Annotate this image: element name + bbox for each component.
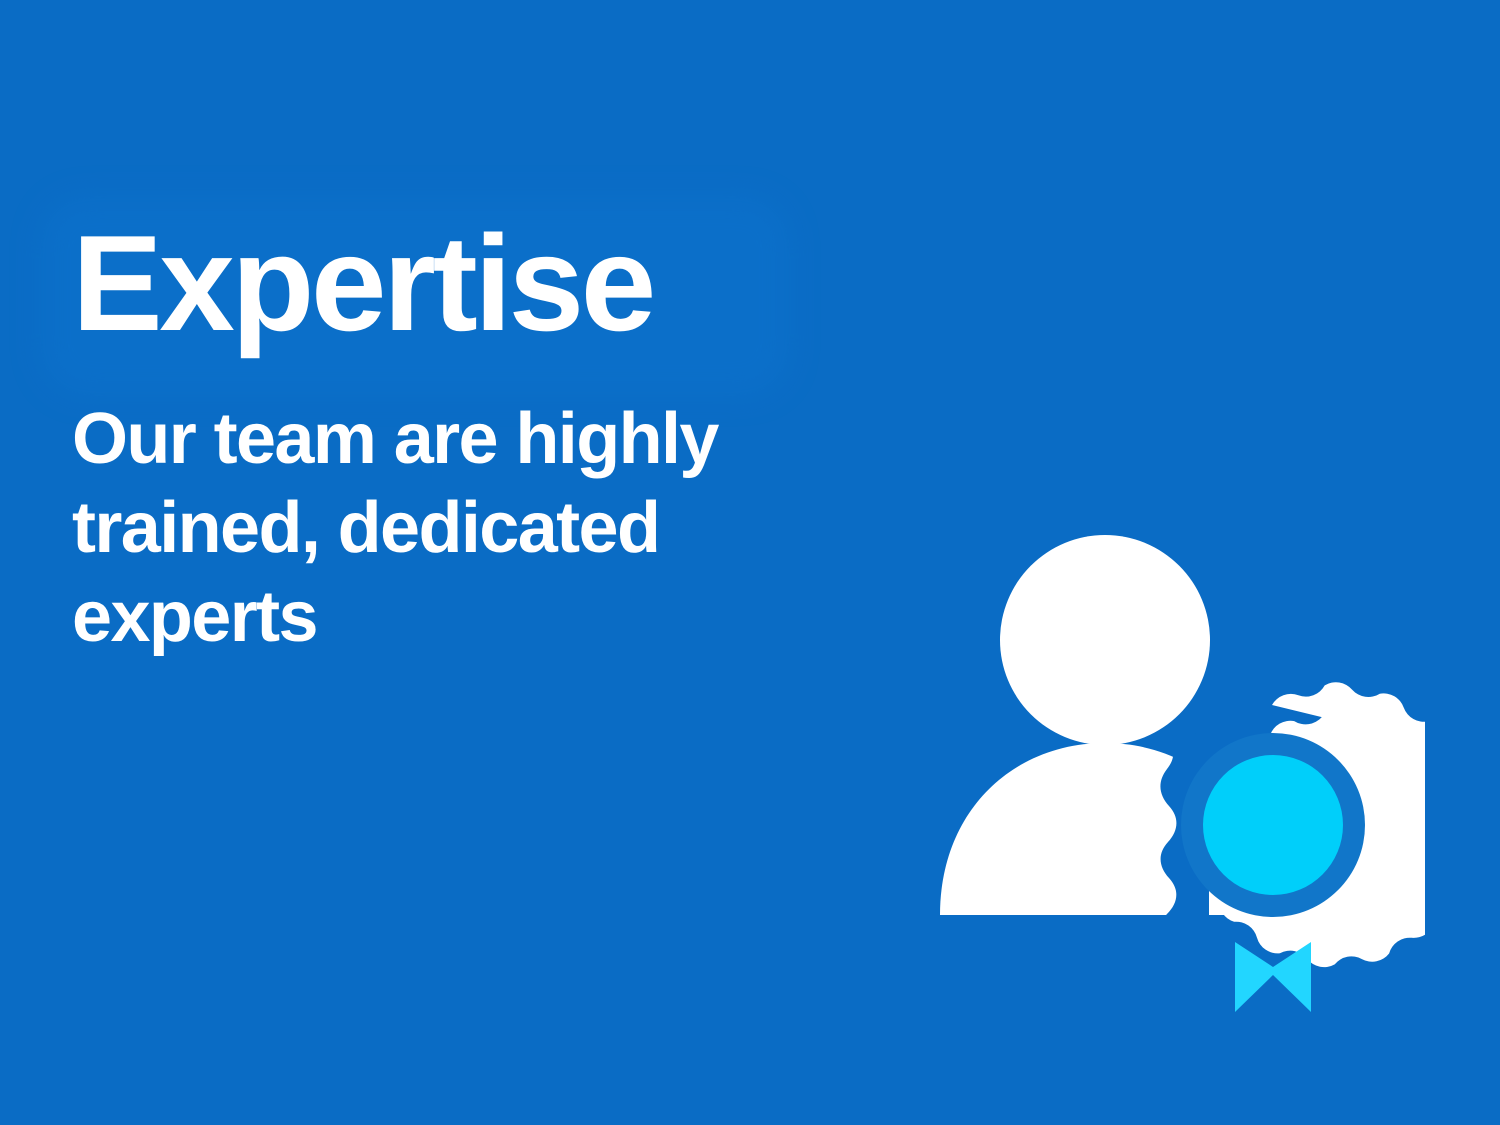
award-badge-center-icon xyxy=(1203,755,1343,895)
subtitle-line-2: trained, dedicated xyxy=(72,484,872,573)
expertise-slide: Expertise Our team are highly trained, d… xyxy=(0,0,1500,1125)
subtitle-line-3: experts xyxy=(72,573,872,662)
subtitle-line-1: Our team are highly xyxy=(72,395,872,484)
page-title: Expertise xyxy=(72,214,932,353)
award-badge-icon xyxy=(1181,682,1425,967)
certified-person-badge-icon xyxy=(905,505,1425,1025)
person-head-icon xyxy=(1000,535,1210,745)
page-subtitle: Our team are highly trained, dedicated e… xyxy=(72,353,872,663)
text-block: Expertise Our team are highly trained, d… xyxy=(72,214,932,663)
